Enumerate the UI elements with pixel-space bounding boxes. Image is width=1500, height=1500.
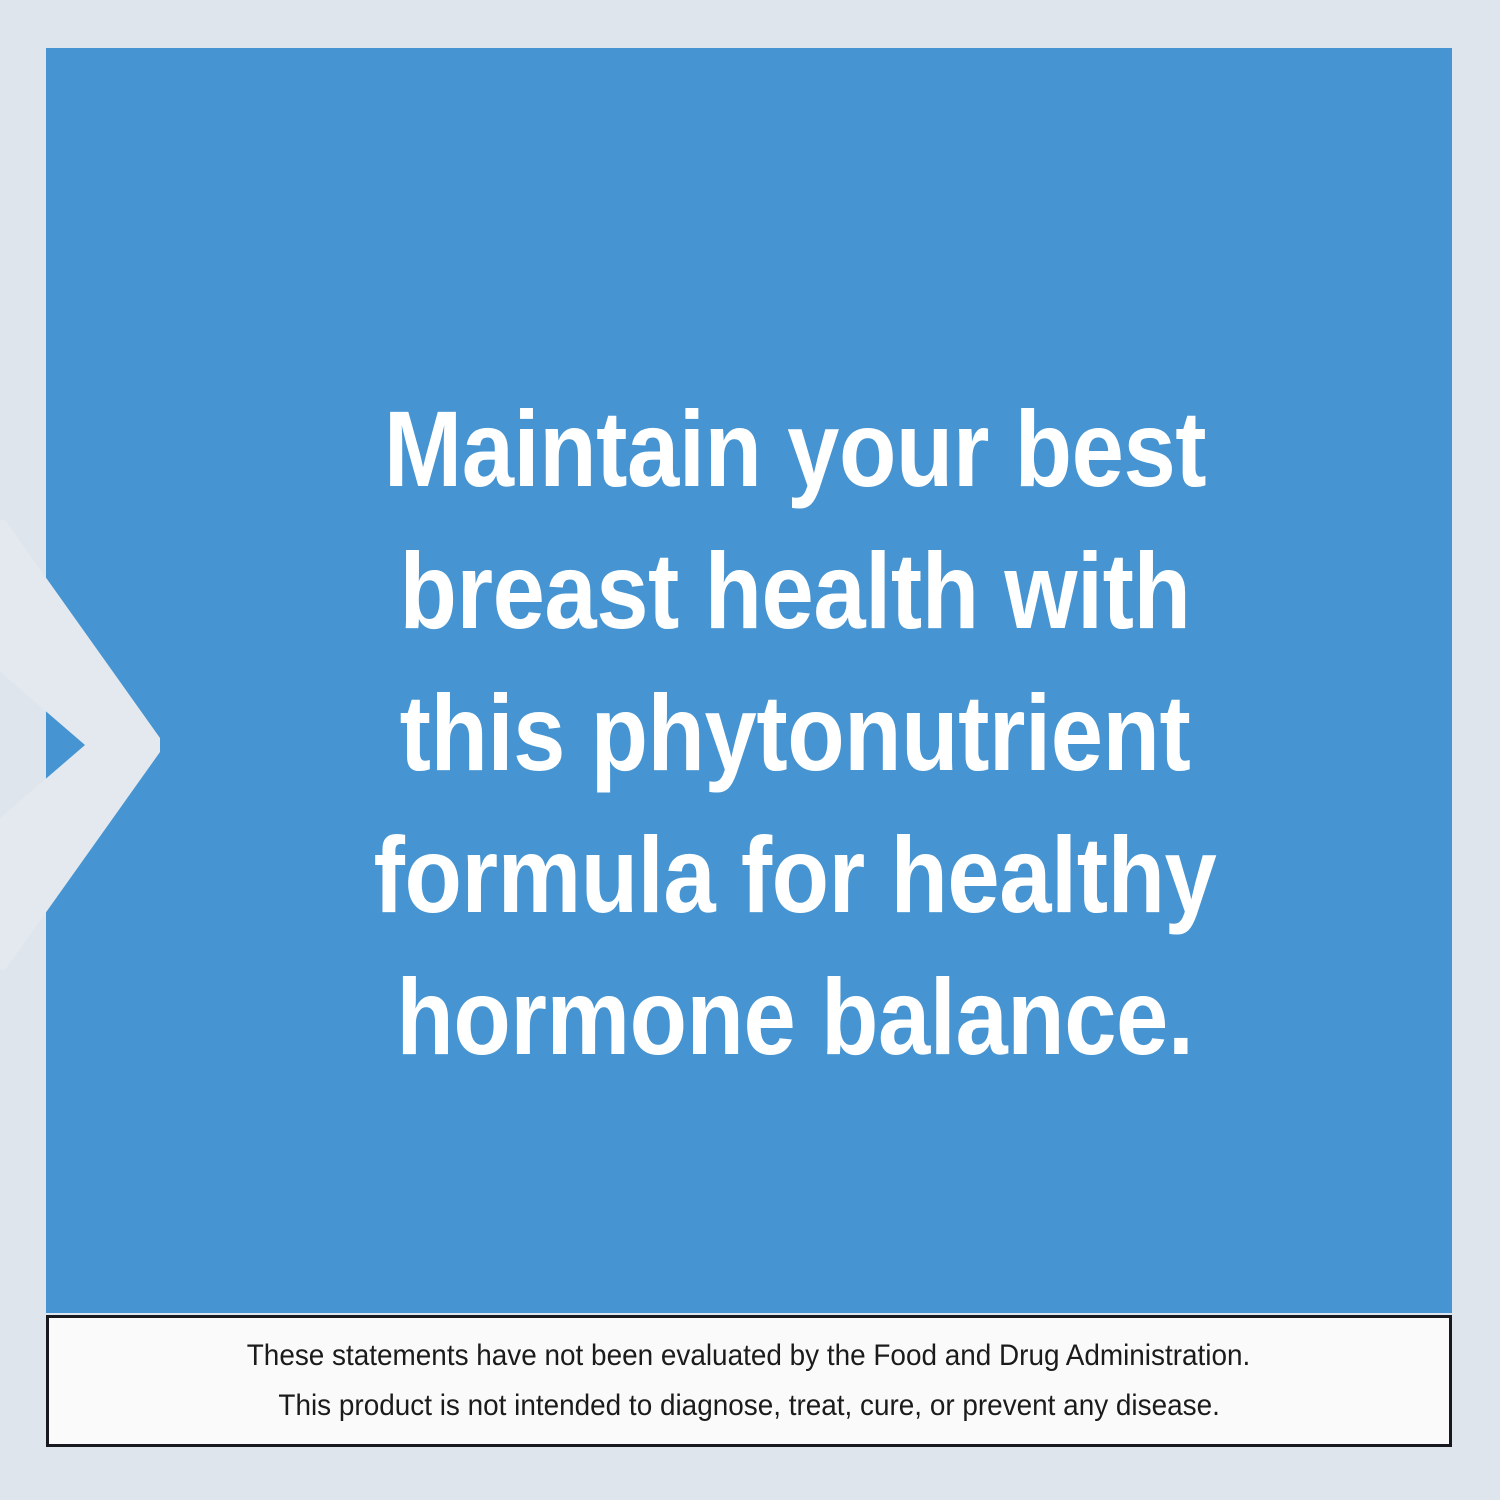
disclaimer-line-2: This product is not intended to diagnose…	[278, 1381, 1219, 1431]
poster-canvas: Maintain your best breast health with th…	[0, 0, 1500, 1500]
headline-line-5: hormone balance.	[183, 946, 1406, 1088]
headline-line-3: this phytonutrient	[183, 662, 1406, 804]
headline-line-1: Maintain your best	[183, 378, 1406, 520]
disclaimer-line-1: These statements have not been evaluated…	[247, 1331, 1250, 1381]
blue-content-panel: Maintain your best breast health with th…	[46, 48, 1452, 1313]
headline-line-2: breast health with	[183, 520, 1406, 662]
headline-line-4: formula for healthy	[183, 804, 1406, 946]
headline-block: Maintain your best breast health with th…	[183, 378, 1406, 1088]
fda-disclaimer-box: These statements have not been evaluated…	[46, 1315, 1452, 1447]
